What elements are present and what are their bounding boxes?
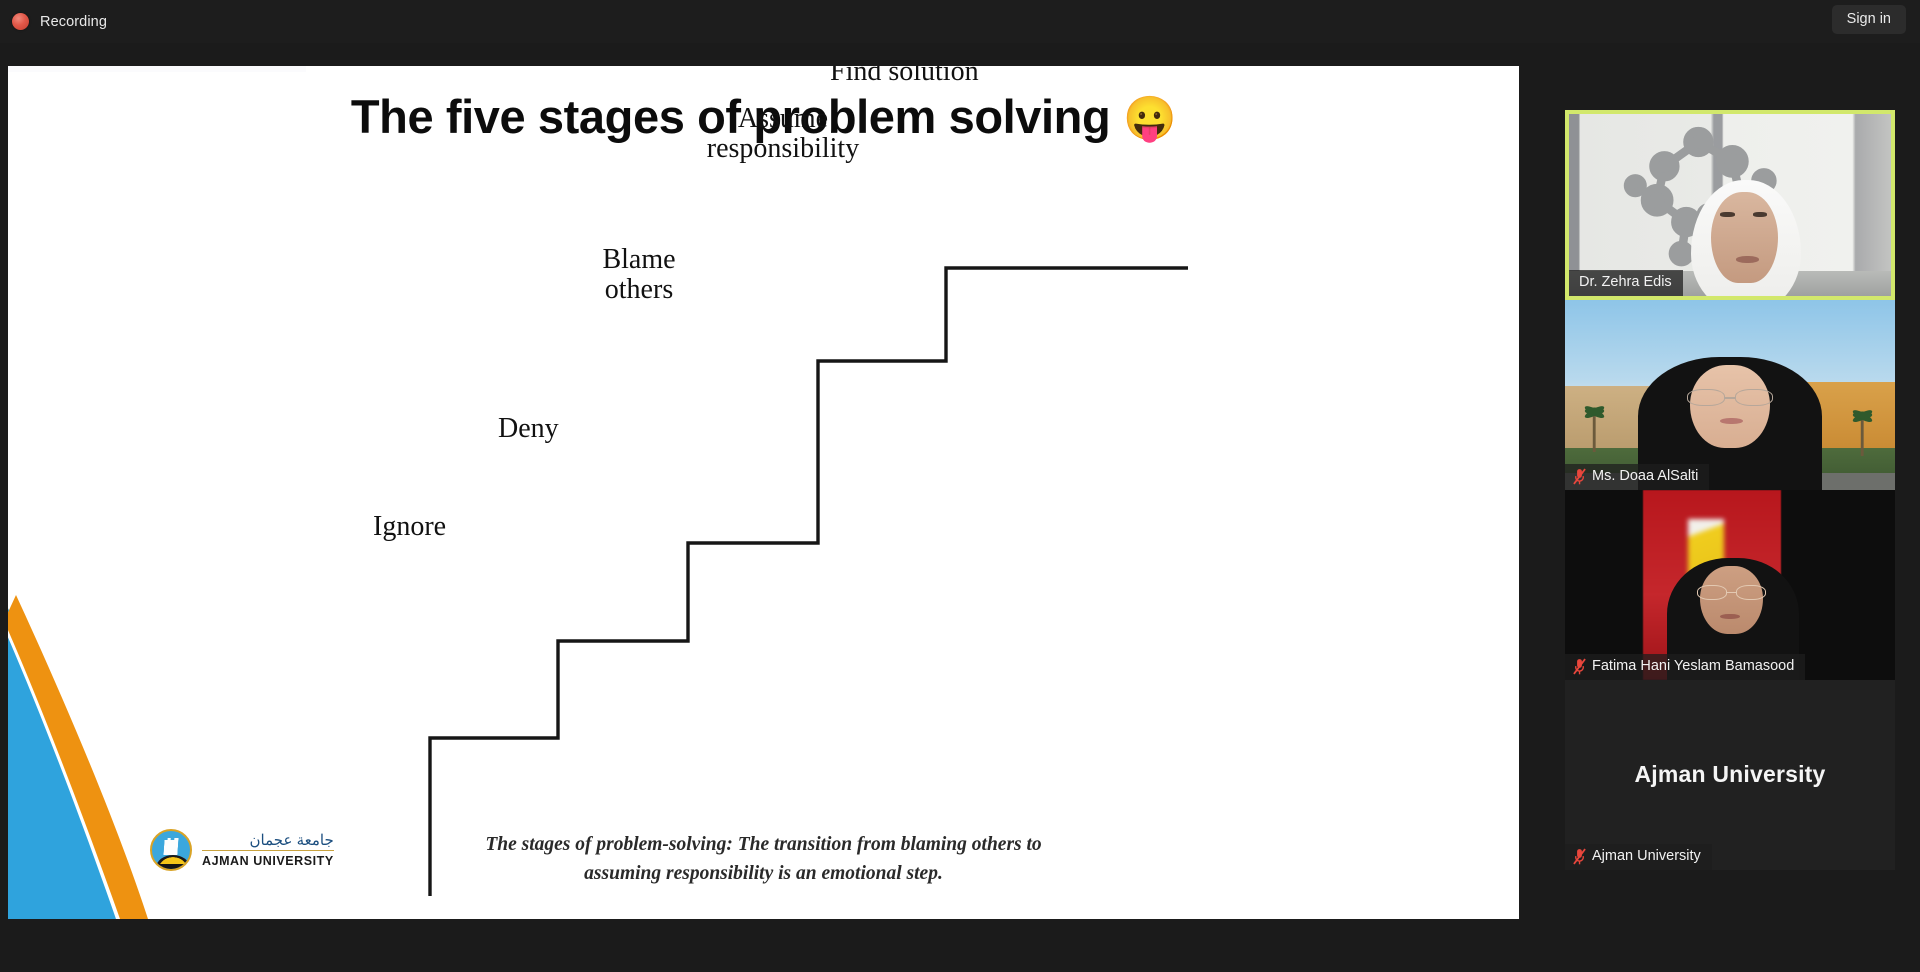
participant-nameplate: Ajman University — [1565, 844, 1712, 870]
palm-tree-icon — [1846, 399, 1879, 456]
participant-display-name: Ajman University — [1565, 761, 1895, 788]
record-dot-icon — [12, 13, 29, 30]
participant-filmstrip[interactable]: Dr. Zehra Edis — [1565, 110, 1895, 870]
brand-name-english: AJMAN UNIVERSITY — [202, 852, 334, 868]
participant-face — [1690, 365, 1769, 449]
staircase-path — [398, 251, 1188, 896]
participant-tile-ms-doaa-alsalti[interactable]: Ms. Doaa AlSalti — [1565, 300, 1895, 490]
participant-nameplate: Ms. Doaa AlSalti — [1565, 464, 1709, 490]
share-region-highlight — [8, 66, 306, 72]
participant-video — [1565, 300, 1895, 490]
palm-tree-icon — [1578, 395, 1611, 452]
ajman-university-logo: جامعة عجمان AJMAN UNIVERSITY — [150, 829, 334, 871]
top-bar: Recording Sign in — [0, 0, 1920, 43]
stair-label-blame-others: Blame others — [593, 245, 685, 304]
participant-name: Ajman University — [1592, 848, 1701, 865]
stair-label-find-solution: Find solution — [830, 66, 979, 87]
participant-name: Ms. Doaa AlSalti — [1592, 468, 1698, 485]
shared-screen-slide[interactable]: The five stages of problem solving 😛 Ign… — [8, 66, 1519, 919]
mic-muted-icon — [1573, 468, 1586, 485]
face-with-tongue-emoji: 😛 — [1123, 95, 1176, 143]
recording-indicator: Recording — [12, 13, 107, 30]
participant-face — [1711, 192, 1779, 283]
eyeglasses-icon — [1697, 585, 1766, 600]
participant-name: Fatima Hani Yeslam Bamasood — [1592, 658, 1794, 675]
stair-label-ignore: Ignore — [373, 512, 446, 542]
participant-video — [1565, 490, 1895, 680]
sign-in-button[interactable]: Sign in — [1832, 5, 1906, 34]
participant-nameplate: Fatima Hani Yeslam Bamasood — [1565, 654, 1805, 680]
stair-label-deny: Deny — [498, 414, 559, 444]
participant-name: Dr. Zehra Edis — [1579, 274, 1672, 291]
participant-face — [1700, 566, 1763, 634]
mic-muted-icon — [1573, 658, 1586, 675]
recording-label: Recording — [40, 14, 107, 30]
participant-tile-dr-zehra-edis[interactable]: Dr. Zehra Edis — [1565, 110, 1895, 300]
mic-muted-icon — [1573, 848, 1586, 865]
brand-name-arabic: جامعة عجمان — [202, 833, 334, 851]
ajman-university-crest-icon — [150, 829, 192, 871]
participant-tile-fatima-hani-yeslam-bamasood[interactable]: Fatima Hani Yeslam Bamasood — [1565, 490, 1895, 680]
participant-nameplate: Dr. Zehra Edis — [1569, 270, 1683, 296]
participant-tile-ajman-university[interactable]: Ajman University Ajman University — [1565, 680, 1895, 870]
stair-label-assume-responsibility: Assume responsibility — [688, 104, 878, 163]
eyeglasses-icon — [1687, 389, 1773, 406]
staircase-diagram: Ignore Deny Blame others Assume responsi… — [398, 251, 1188, 896]
